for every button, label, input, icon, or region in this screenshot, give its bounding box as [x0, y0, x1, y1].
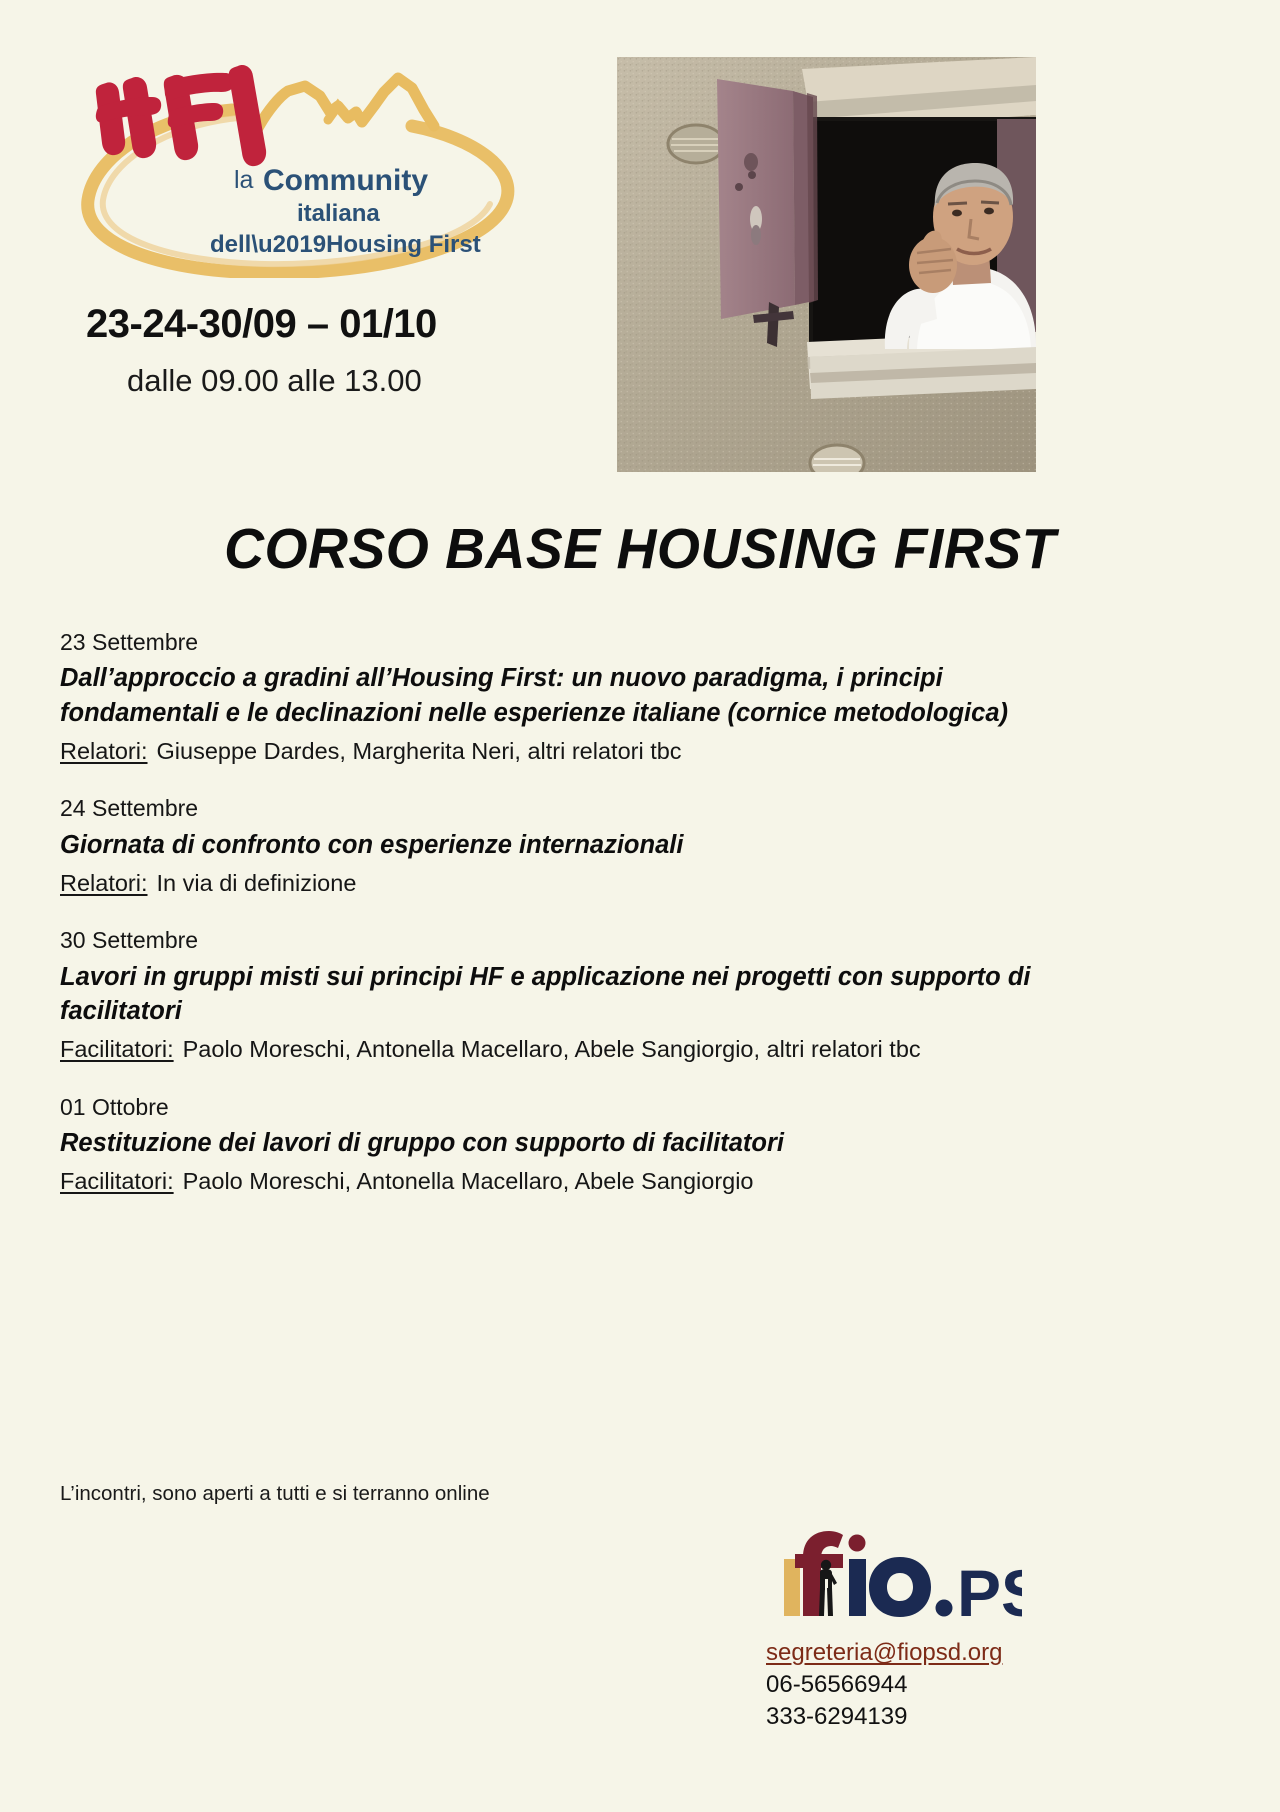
program-speaker-names: Paolo Moreschi, Antonella Macellaro, Abe… — [183, 1168, 754, 1194]
program-session-title: Giornata di confronto con esperienze int… — [60, 828, 1060, 862]
fiopsd-logo: PSD — [757, 1527, 1022, 1622]
program-speaker-names: In via di definizione — [157, 870, 357, 896]
course-dates: 23-24-30/09 – 01/10 — [86, 302, 437, 347]
course-time: dalle 09.00 alle 13.00 — [127, 363, 422, 399]
program-date: 01 Ottobre — [60, 1093, 1060, 1122]
attendance-note: L’incontri, sono aperti a tutti e si ter… — [60, 1482, 490, 1506]
program-role-label: Relatori: — [60, 738, 148, 764]
program-speaker-names: Paolo Moreschi, Antonella Macellaro, Abe… — [183, 1036, 921, 1062]
program-block: 23 Settembre Dall’approccio a gradini al… — [60, 628, 1060, 766]
contact-phone-1: 06-56566944 — [766, 1669, 1002, 1701]
logo-line1-bold: Community — [263, 164, 428, 197]
program-list: 23 Settembre Dall’approccio a gradini al… — [60, 628, 1060, 1225]
program-date: 24 Settembre — [60, 794, 1060, 823]
program-block: 01 Ottobre Restituzione dei lavori di gr… — [60, 1093, 1060, 1197]
person-silhouette-icon — [819, 1560, 837, 1616]
program-speakers: Facilitatori:Paolo Moreschi, Antonella M… — [60, 1166, 1060, 1197]
program-session-title: Dall’approccio a gradini all’Housing Fir… — [60, 661, 1060, 729]
contact-phone-2: 333-6294139 — [766, 1701, 1002, 1733]
program-speakers: Relatori:In via di definizione — [60, 868, 1060, 899]
logo-dot — [936, 1600, 953, 1617]
logo-letter-o — [869, 1557, 931, 1617]
program-session-title: Lavori in gruppi misti sui principi HF e… — [60, 960, 1060, 1028]
logo-line2: italiana — [297, 200, 380, 227]
program-role-label: Facilitatori: — [60, 1036, 174, 1062]
hfi-mark-icon — [96, 65, 266, 166]
poster-page: la Community italiana dell\u2019Housing … — [0, 0, 1280, 1812]
program-role-label: Facilitatori: — [60, 1168, 174, 1194]
program-role-label: Relatori: — [60, 870, 148, 896]
logo-i-dot — [849, 1535, 866, 1552]
page-title: CORSO BASE HOUSING FIRST — [19, 516, 1261, 582]
program-block: 30 Settembre Lavori in gruppi misti sui … — [60, 926, 1060, 1064]
logo-i-stem — [849, 1559, 866, 1616]
logo-line3: dell\u2019Housing First — [210, 231, 481, 258]
program-speakers: Facilitatori:Paolo Moreschi, Antonella M… — [60, 1034, 1060, 1065]
photo-man-at-window — [617, 57, 1036, 472]
logo-psd-text: PSD — [957, 1556, 1022, 1622]
program-date: 23 Settembre — [60, 628, 1060, 657]
contact-email-link[interactable]: segreteria@fiopsd.org — [766, 1637, 1002, 1669]
hfi-logo: la Community italiana dell\u2019Housing … — [62, 48, 532, 278]
program-session-title: Restituzione dei lavori di gruppo con su… — [60, 1126, 1060, 1160]
program-speakers: Relatori:Giuseppe Dardes, Margherita Ner… — [60, 736, 1060, 767]
program-speaker-names: Giuseppe Dardes, Margherita Neri, altri … — [157, 738, 682, 764]
program-date: 30 Settembre — [60, 926, 1060, 955]
logo-line1: la — [234, 166, 254, 194]
contact-block: segreteria@fiopsd.org 06-56566944 333-62… — [766, 1637, 1002, 1733]
program-block: 24 Settembre Giornata di confronto con e… — [60, 794, 1060, 898]
